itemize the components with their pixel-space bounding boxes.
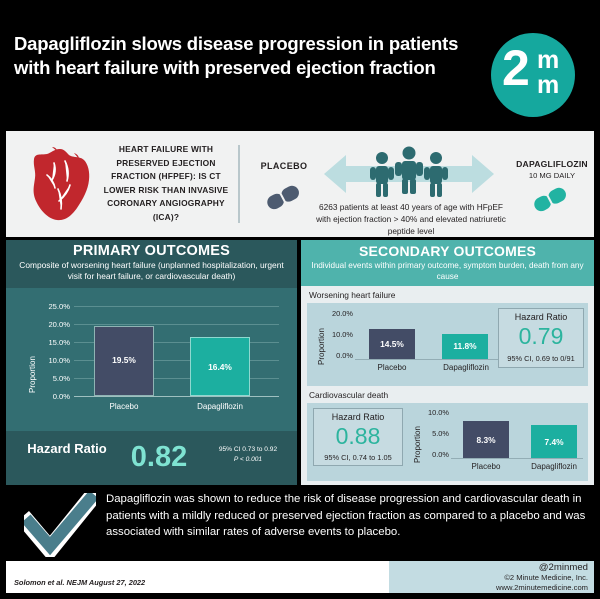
anatomical-heart-icon <box>30 145 92 221</box>
population-band: HEART FAILURE WITH PRESERVED EJECTION FR… <box>6 131 594 237</box>
y-tick: 10.0% <box>417 408 449 417</box>
y-tick: 20.0% <box>321 309 353 318</box>
footer-bar: Solomon et al. NEJM August 27, 2022 @2mi… <box>6 561 594 593</box>
y-tick: 20.0% <box>36 320 70 329</box>
y-tick: 0.0% <box>321 351 353 360</box>
footer-brand-box: @2minmed ©2 Minute Medicine, Inc. www.2m… <box>389 561 594 593</box>
secondary-header: SECONDARY OUTCOMES Individual events wit… <box>301 240 594 286</box>
logo-numeral: 2 <box>502 43 530 93</box>
bar-placebo: 19.5% <box>94 326 154 396</box>
hazard-ratio-ci: 95% CI 0.73 to 0.92 P < 0.001 <box>202 445 294 465</box>
copyright-text: ©2 Minute Medicine, Inc. <box>504 573 588 582</box>
x-tick: Placebo <box>362 363 422 372</box>
hazard-ratio-ci: 95% CI, 0.74 to 1.05 <box>314 453 402 462</box>
study-question: HEART FAILURE WITH PRESERVED EJECTION FR… <box>96 143 236 225</box>
bar-value: 19.5% <box>95 355 153 365</box>
social-handle: @2minmed <box>539 562 588 573</box>
conclusion-band: Dapagliflozin was shown to reduce the ri… <box>6 489 594 561</box>
hazard-ratio-label: Hazard Ratio <box>24 441 110 457</box>
worsening-hf-hazard-box: Hazard Ratio 0.79 95% CI, 0.69 to 0/91 <box>498 308 584 368</box>
y-tick: 15.0% <box>36 338 70 347</box>
header-bar: Dapagliflozin slows disease progression … <box>0 22 600 128</box>
hazard-ratio-label: Hazard Ratio <box>314 412 402 422</box>
website-url[interactable]: www.2minutemedicine.com <box>496 583 588 592</box>
dapagliflozin-pill-icon <box>529 185 573 213</box>
logo-m-top: m <box>537 48 559 73</box>
placebo-label: PLACEBO <box>249 161 319 171</box>
p-value-text: P < 0.001 <box>202 455 294 465</box>
x-tick: Dapagliflozin <box>180 402 260 411</box>
worsening-hf-chart: Proportion 20.0% 10.0% 0.0% 14.5% 11.8% … <box>307 303 588 386</box>
conclusion-text: Dapagliflozin was shown to reduce the ri… <box>106 491 586 541</box>
placebo-pill-icon <box>262 183 306 211</box>
y-tick: 5.0% <box>36 374 70 383</box>
hazard-ratio-label: Hazard Ratio <box>499 312 583 322</box>
bar-value: 16.4% <box>191 362 249 372</box>
vertical-divider <box>238 145 240 223</box>
bar-value: 14.5% <box>369 339 415 349</box>
infographic-page: Dapagliflozin slows disease progression … <box>0 0 600 599</box>
primary-outcomes-panel: PRIMARY OUTCOMES Composite of worsening … <box>6 240 297 485</box>
checkmark-icon <box>24 493 96 557</box>
bar-dapagliflozin: 16.4% <box>190 337 250 396</box>
y-tick: 10.0% <box>36 356 70 365</box>
bar-placebo: 14.5% <box>369 329 415 359</box>
primary-title: PRIMARY OUTCOMES <box>6 243 297 259</box>
page-title: Dapagliflozin slows disease progression … <box>14 32 474 81</box>
y-tick: 10.0% <box>321 330 353 339</box>
cv-death-chart: Hazard Ratio 0.88 95% CI, 0.74 to 1.05 P… <box>307 403 588 481</box>
x-tick: Placebo <box>94 402 154 411</box>
primary-subtitle: Composite of worsening heart failure (un… <box>14 260 289 283</box>
y-tick: 0.0% <box>36 392 70 401</box>
bar-dapagliflozin: 11.8% <box>442 334 488 359</box>
hazard-ratio-value: 0.88 <box>314 423 402 450</box>
primary-hazard-ratio: Hazard Ratio 0.82 95% CI 0.73 to 0.92 P … <box>6 431 297 485</box>
population-arrow-icon <box>324 145 494 203</box>
primary-header: PRIMARY OUTCOMES Composite of worsening … <box>6 240 297 288</box>
axis-line <box>74 396 279 397</box>
bar-value: 7.4% <box>531 437 577 447</box>
primary-bar-chart: Proportion 25.0% 20.0% 15.0% 10.0% 5.0% … <box>6 288 297 431</box>
bar-value: 11.8% <box>442 341 488 351</box>
y-tick: 0.0% <box>417 450 449 459</box>
hazard-ratio-value: 0.79 <box>499 323 583 350</box>
axis-line <box>451 458 583 459</box>
gridline <box>74 324 279 325</box>
secondary-outcomes-panel: SECONDARY OUTCOMES Individual events wit… <box>301 240 594 485</box>
hazard-ratio-ci: 95% CI, 0.69 to 0/91 <box>499 354 583 363</box>
x-tick: Placebo <box>456 462 516 471</box>
secondary-subtitle: Individual events within primary outcome… <box>311 260 584 282</box>
logo-m-bottom: m <box>537 73 559 98</box>
cohort-description: 6263 patients at least 40 years of age w… <box>316 201 506 237</box>
bar-placebo: 8.3% <box>463 421 509 458</box>
ci-text: 95% CI 0.73 to 0.92 <box>202 445 294 455</box>
drug-label: DAPAGLIFLOZIN <box>506 159 598 169</box>
y-tick: 5.0% <box>417 429 449 438</box>
hazard-ratio-value: 0.82 <box>116 437 202 478</box>
brand-logo: 2 m m <box>491 33 575 117</box>
secondary-caption-cv-death: Cardiovascular death <box>309 390 388 400</box>
drug-dose-label: 10 MG DAILY <box>506 171 598 180</box>
gridline <box>74 306 279 307</box>
citation-text: Solomon et al. NEJM August 27, 2022 <box>14 578 145 587</box>
secondary-caption-worsening-hf: Worsening heart failure <box>309 290 395 300</box>
bar-dapagliflozin: 7.4% <box>531 425 577 458</box>
x-tick: Dapagliflozin <box>519 462 589 471</box>
x-tick: Dapagliflozin <box>431 363 501 372</box>
secondary-title: SECONDARY OUTCOMES <box>301 243 594 259</box>
y-tick: 25.0% <box>36 302 70 311</box>
bar-value: 8.3% <box>463 435 509 445</box>
cv-death-hazard-box: Hazard Ratio 0.88 95% CI, 0.74 to 1.05 <box>313 408 403 466</box>
